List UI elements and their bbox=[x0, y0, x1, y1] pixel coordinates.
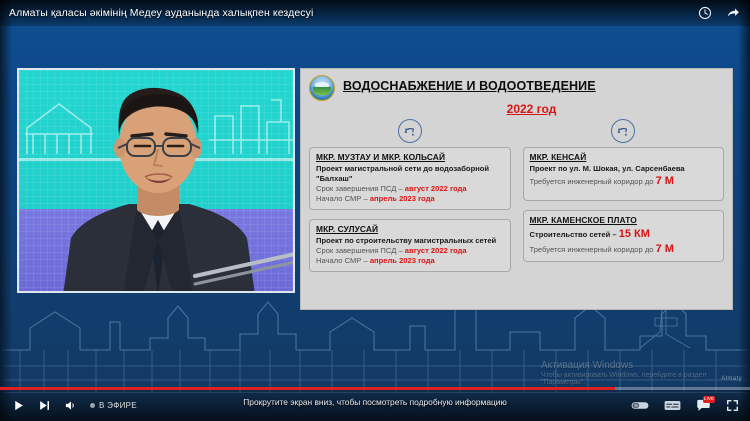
slide-columns: МКР. МУЗТАУ И МКР. КОЛЬСАЙ Проект магист… bbox=[309, 119, 724, 281]
share-button[interactable] bbox=[726, 6, 740, 20]
card-line-value: 7 М bbox=[656, 243, 674, 255]
card-line-label: Срок завершения ПСД – bbox=[316, 246, 405, 255]
volume-icon bbox=[64, 399, 77, 412]
card-line-value: август 2022 года bbox=[405, 184, 467, 193]
control-buttons-right: LIVE bbox=[631, 399, 739, 412]
card-line: Срок завершения ПСД – август 2022 года bbox=[316, 246, 504, 256]
next-track-button[interactable] bbox=[38, 399, 51, 412]
card-line-label: Начало СМР – bbox=[316, 256, 370, 265]
card-line: Проект по ул. М. Шокая, ул. Сарсенбаева bbox=[530, 164, 718, 174]
card-line: Начало СМР – апрель 2023 года bbox=[316, 194, 504, 204]
video-player[interactable]: ВОДОСНАБЖЕНИЕ И ВОДООТВЕДЕНИЕ 2022 год bbox=[0, 0, 750, 421]
water-tap-icon bbox=[398, 119, 422, 143]
card-title: МКР. СУЛУСАЙ bbox=[316, 224, 504, 234]
slide-card: МКР. КАМЕНСКОЕ ПЛАТО Строительство сетей… bbox=[523, 210, 725, 262]
live-indicator[interactable]: В ЭФИРЕ bbox=[90, 401, 137, 410]
slide-card: МКР. КЕНСАЙ Проект по ул. М. Шокая, ул. … bbox=[523, 147, 725, 201]
card-line: Требуется инженерный коридор до 7 М bbox=[530, 174, 718, 189]
card-line: Требуется инженерный коридор до 7 М bbox=[530, 242, 718, 257]
control-row: В ЭФИРЕ Прокрутите экран вниз, чтобы пос… bbox=[0, 390, 750, 421]
live-chat-button[interactable]: LIVE bbox=[696, 399, 711, 412]
card-line-value: август 2022 года bbox=[405, 246, 467, 255]
slide-card: МКР. СУЛУСАЙ Проект по строительству маг… bbox=[309, 219, 511, 272]
card-title: МКР. КЕНСАЙ bbox=[530, 152, 718, 162]
play-icon bbox=[12, 399, 25, 412]
presentation-slide: ВОДОСНАБЖЕНИЕ И ВОДООТВЕДЕНИЕ 2022 год bbox=[300, 68, 733, 310]
channel-logo-bug: Almaty bbox=[721, 376, 742, 382]
scroll-hint-text: Прокрутите экран вниз, чтобы посмотреть … bbox=[243, 397, 506, 407]
card-title: МКР. КАМЕНСКОЕ ПЛАТО bbox=[530, 215, 718, 225]
play-button[interactable] bbox=[12, 399, 25, 412]
slide-header: ВОДОСНАБЖЕНИЕ И ВОДООТВЕДЕНИЕ bbox=[309, 75, 724, 101]
card-line: Срок завершения ПСД – август 2022 года bbox=[316, 184, 504, 194]
slide-title: ВОДОСНАБЖЕНИЕ И ВОДООТВЕДЕНИЕ bbox=[343, 79, 596, 93]
card-line-label: Начало СМР – bbox=[316, 194, 370, 203]
player-control-bar: В ЭФИРЕ Прокрутите экран вниз, чтобы пос… bbox=[0, 390, 750, 421]
almaty-city-emblem-icon bbox=[309, 75, 335, 101]
speaker-camera-feed bbox=[17, 68, 295, 293]
video-title: Алматы қаласы әкімінің Медеу ауданында х… bbox=[9, 7, 313, 19]
slide-year: 2022 год bbox=[339, 102, 724, 116]
share-icon bbox=[726, 6, 740, 20]
slide-column-left: МКР. МУЗТАУ И МКР. КОЛЬСАЙ Проект магист… bbox=[309, 119, 511, 281]
card-title: МКР. МУЗТАУ И МКР. КОЛЬСАЙ bbox=[316, 152, 504, 162]
quality-toggle-icon bbox=[631, 399, 649, 412]
card-line-value: 15 КМ bbox=[619, 228, 650, 240]
quality-toggle-button[interactable] bbox=[631, 399, 649, 412]
control-buttons-left: В ЭФИРЕ bbox=[12, 399, 137, 412]
slide-card: МКР. МУЗТАУ И МКР. КОЛЬСАЙ Проект магист… bbox=[309, 147, 511, 210]
fullscreen-button[interactable] bbox=[726, 399, 739, 412]
card-line: Проект магистральной сети до водозаборно… bbox=[316, 164, 504, 184]
tap-icon-wrap-left bbox=[309, 119, 511, 147]
top-action-buttons bbox=[698, 6, 740, 20]
player-top-bar: Алматы қаласы әкімінің Медеу ауданында х… bbox=[0, 0, 750, 26]
card-line: Строительство сетей – 15 КМ bbox=[530, 227, 718, 242]
speaker-person bbox=[19, 70, 295, 293]
card-line-label: Требуется инженерный коридор до bbox=[530, 177, 656, 186]
card-line: Начало СМР – апрель 2023 года bbox=[316, 256, 504, 266]
clock-icon bbox=[698, 6, 712, 20]
subtitles-button[interactable] bbox=[664, 399, 681, 412]
volume-button[interactable] bbox=[64, 399, 77, 412]
broadcast-video-frame: ВОДОСНАБЖЕНИЕ И ВОДООТВЕДЕНИЕ 2022 год bbox=[0, 0, 750, 421]
watch-later-button[interactable] bbox=[698, 6, 712, 20]
card-line-value: 7 М bbox=[656, 175, 674, 187]
right-edge-vignette bbox=[738, 0, 750, 421]
next-track-icon bbox=[38, 399, 51, 412]
left-edge-vignette bbox=[0, 0, 12, 421]
live-chat-badge: LIVE bbox=[703, 396, 715, 403]
card-line-label: Строительство сетей – bbox=[530, 230, 619, 239]
card-line-value: апрель 2023 года bbox=[370, 194, 435, 203]
fullscreen-icon bbox=[726, 399, 739, 412]
card-line-label: Срок завершения ПСД – bbox=[316, 184, 405, 193]
live-dot-icon bbox=[90, 403, 95, 408]
live-label: В ЭФИРЕ bbox=[99, 401, 137, 410]
card-line-value: апрель 2023 года bbox=[370, 256, 435, 265]
water-tap-icon bbox=[611, 119, 635, 143]
subtitles-icon bbox=[664, 399, 681, 412]
slide-column-right: МКР. КЕНСАЙ Проект по ул. М. Шокая, ул. … bbox=[523, 119, 725, 281]
tap-icon-wrap-right bbox=[523, 119, 725, 147]
card-line: Проект по строительству магистральных се… bbox=[316, 236, 504, 246]
card-line-label: Требуется инженерный коридор до bbox=[530, 245, 656, 254]
